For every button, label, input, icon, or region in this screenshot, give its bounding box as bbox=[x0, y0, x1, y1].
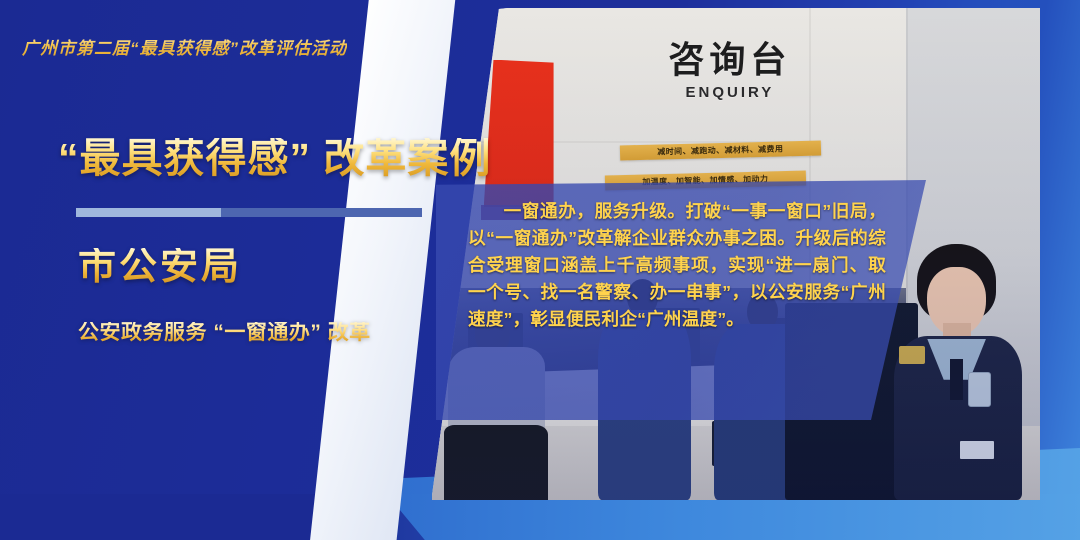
case-description-text: 一窗通办，服务升级。打破“一事一窗口”旧局，以“一窗通办”改革解企业群众办事之困… bbox=[468, 198, 886, 333]
reform-subtitle: 公安政务服务 “一窗通办” 改革 bbox=[78, 322, 371, 343]
organization-name: 市公安局 bbox=[78, 248, 242, 286]
poster-canvas: 咨询台 ENQUIRY 减时间、减跑动、减材料、减费用 加温度、加智能、加情感、… bbox=[0, 0, 1080, 540]
event-eyebrow-title: 广州市第二届“最具获得感”改革评估活动 bbox=[22, 34, 347, 59]
page-title: “最具获得感” 改革案例 bbox=[58, 138, 491, 179]
title-divider-bar bbox=[76, 208, 422, 217]
divider-segment-dark bbox=[221, 208, 422, 217]
case-description-body: 一窗通办，服务升级。打破“一事一窗口”旧局，以“一窗通办”改革解企业群众办事之困… bbox=[468, 201, 886, 329]
divider-segment-light bbox=[76, 208, 221, 217]
